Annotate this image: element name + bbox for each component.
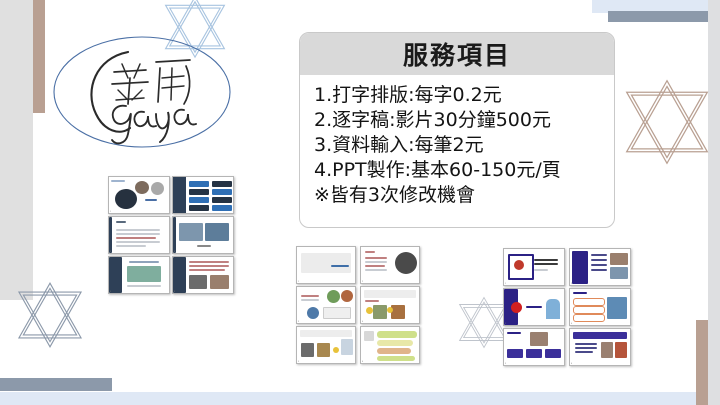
thumbnail-number: 6 bbox=[174, 291, 175, 293]
thumbnail-slide[interactable]: 1 bbox=[108, 176, 170, 214]
thumbnail-slide[interactable]: 2 bbox=[360, 246, 420, 284]
thumbnail-number: 2 bbox=[571, 283, 572, 285]
thumbnail-number: 1 bbox=[298, 281, 299, 283]
thumbnail-slide[interactable]: 1 bbox=[503, 248, 565, 286]
thumbnail-slide[interactable]: 2 bbox=[569, 248, 631, 286]
right-tan-bar bbox=[696, 320, 708, 405]
signature-logo bbox=[52, 28, 232, 156]
service-note: ※皆有3次修改機會 bbox=[314, 183, 614, 208]
thumbnail-slide[interactable]: 5 bbox=[108, 256, 170, 294]
thumbnail-slide[interactable]: 3 bbox=[108, 216, 170, 254]
thumbnail-slide[interactable]: 6 bbox=[172, 256, 234, 294]
thumbnail-number: 4 bbox=[174, 251, 175, 253]
thumbnail-number: 2 bbox=[174, 211, 175, 213]
left-grey-panel bbox=[0, 0, 33, 300]
thumbnail-slide[interactable]: 3 bbox=[296, 286, 356, 324]
thumbnail-slide[interactable]: 6 bbox=[360, 326, 420, 364]
thumbnail-number: 4 bbox=[571, 323, 572, 325]
thumbnail-number: 5 bbox=[298, 361, 299, 363]
thumbnail-number: 2 bbox=[362, 281, 363, 283]
thumbnail-number: 5 bbox=[505, 363, 506, 365]
thumbnail-slide[interactable]: 4 bbox=[360, 286, 420, 324]
left-tan-bar bbox=[33, 0, 45, 113]
portfolio-cluster-navy: 1 2 3 4 bbox=[108, 176, 234, 300]
service-items-card: 服務項目 1.打字排版:每字0.2元 2.逐字稿:影片30分鐘500元 3.資料… bbox=[299, 32, 615, 228]
thumbnail-slide[interactable]: 4 bbox=[569, 288, 631, 326]
thumbnail-number: 5 bbox=[110, 291, 111, 293]
service-item-4: 4.PPT製作:基本60-150元/頁 bbox=[314, 158, 614, 183]
bottom-blue-band bbox=[0, 392, 720, 405]
thumbnail-number: 3 bbox=[505, 323, 506, 325]
thumbnail-number: 4 bbox=[362, 321, 363, 323]
thumbnail-slide[interactable]: 5 bbox=[296, 326, 356, 364]
top-greyblue-bar bbox=[608, 11, 720, 22]
card-header: 服務項目 bbox=[300, 33, 614, 75]
star-top-right-icon bbox=[619, 76, 715, 168]
service-item-3: 3.資料輸入:每筆2元 bbox=[314, 133, 614, 158]
thumbnail-number: 3 bbox=[298, 321, 299, 323]
thumbnail-number: 1 bbox=[110, 211, 111, 213]
service-item-1: 1.打字排版:每字0.2元 bbox=[314, 83, 614, 108]
right-grey-bar bbox=[708, 0, 720, 405]
page-title: 服務項目 bbox=[403, 36, 511, 72]
thumbnail-number: 6 bbox=[362, 361, 363, 363]
thumbnail-number: 1 bbox=[505, 283, 506, 285]
portfolio-cluster-purple: 1 2 3 4 bbox=[503, 248, 633, 372]
thumbnail-slide[interactable]: 6 bbox=[569, 328, 631, 366]
thumbnail-number: 6 bbox=[571, 363, 572, 365]
presentation-slide: 服務項目 1.打字排版:每字0.2元 2.逐字稿:影片30分鐘500元 3.資料… bbox=[0, 0, 720, 405]
thumbnail-slide[interactable]: 5 bbox=[503, 328, 565, 366]
thumbnail-number: 3 bbox=[110, 251, 111, 253]
thumbnail-slide[interactable]: 3 bbox=[503, 288, 565, 326]
card-body: 1.打字排版:每字0.2元 2.逐字稿:影片30分鐘500元 3.資料輸入:每筆… bbox=[300, 75, 614, 208]
thumbnail-slide[interactable]: 1 bbox=[296, 246, 356, 284]
thumbnail-slide[interactable]: 4 bbox=[172, 216, 234, 254]
star-bottom-left-icon bbox=[13, 280, 87, 350]
bottom-greyblue-bar bbox=[0, 378, 112, 391]
service-item-2: 2.逐字稿:影片30分鐘500元 bbox=[314, 108, 614, 133]
thumbnail-slide[interactable]: 2 bbox=[172, 176, 234, 214]
portfolio-cluster-light: 1 2 3 4 bbox=[296, 246, 422, 370]
